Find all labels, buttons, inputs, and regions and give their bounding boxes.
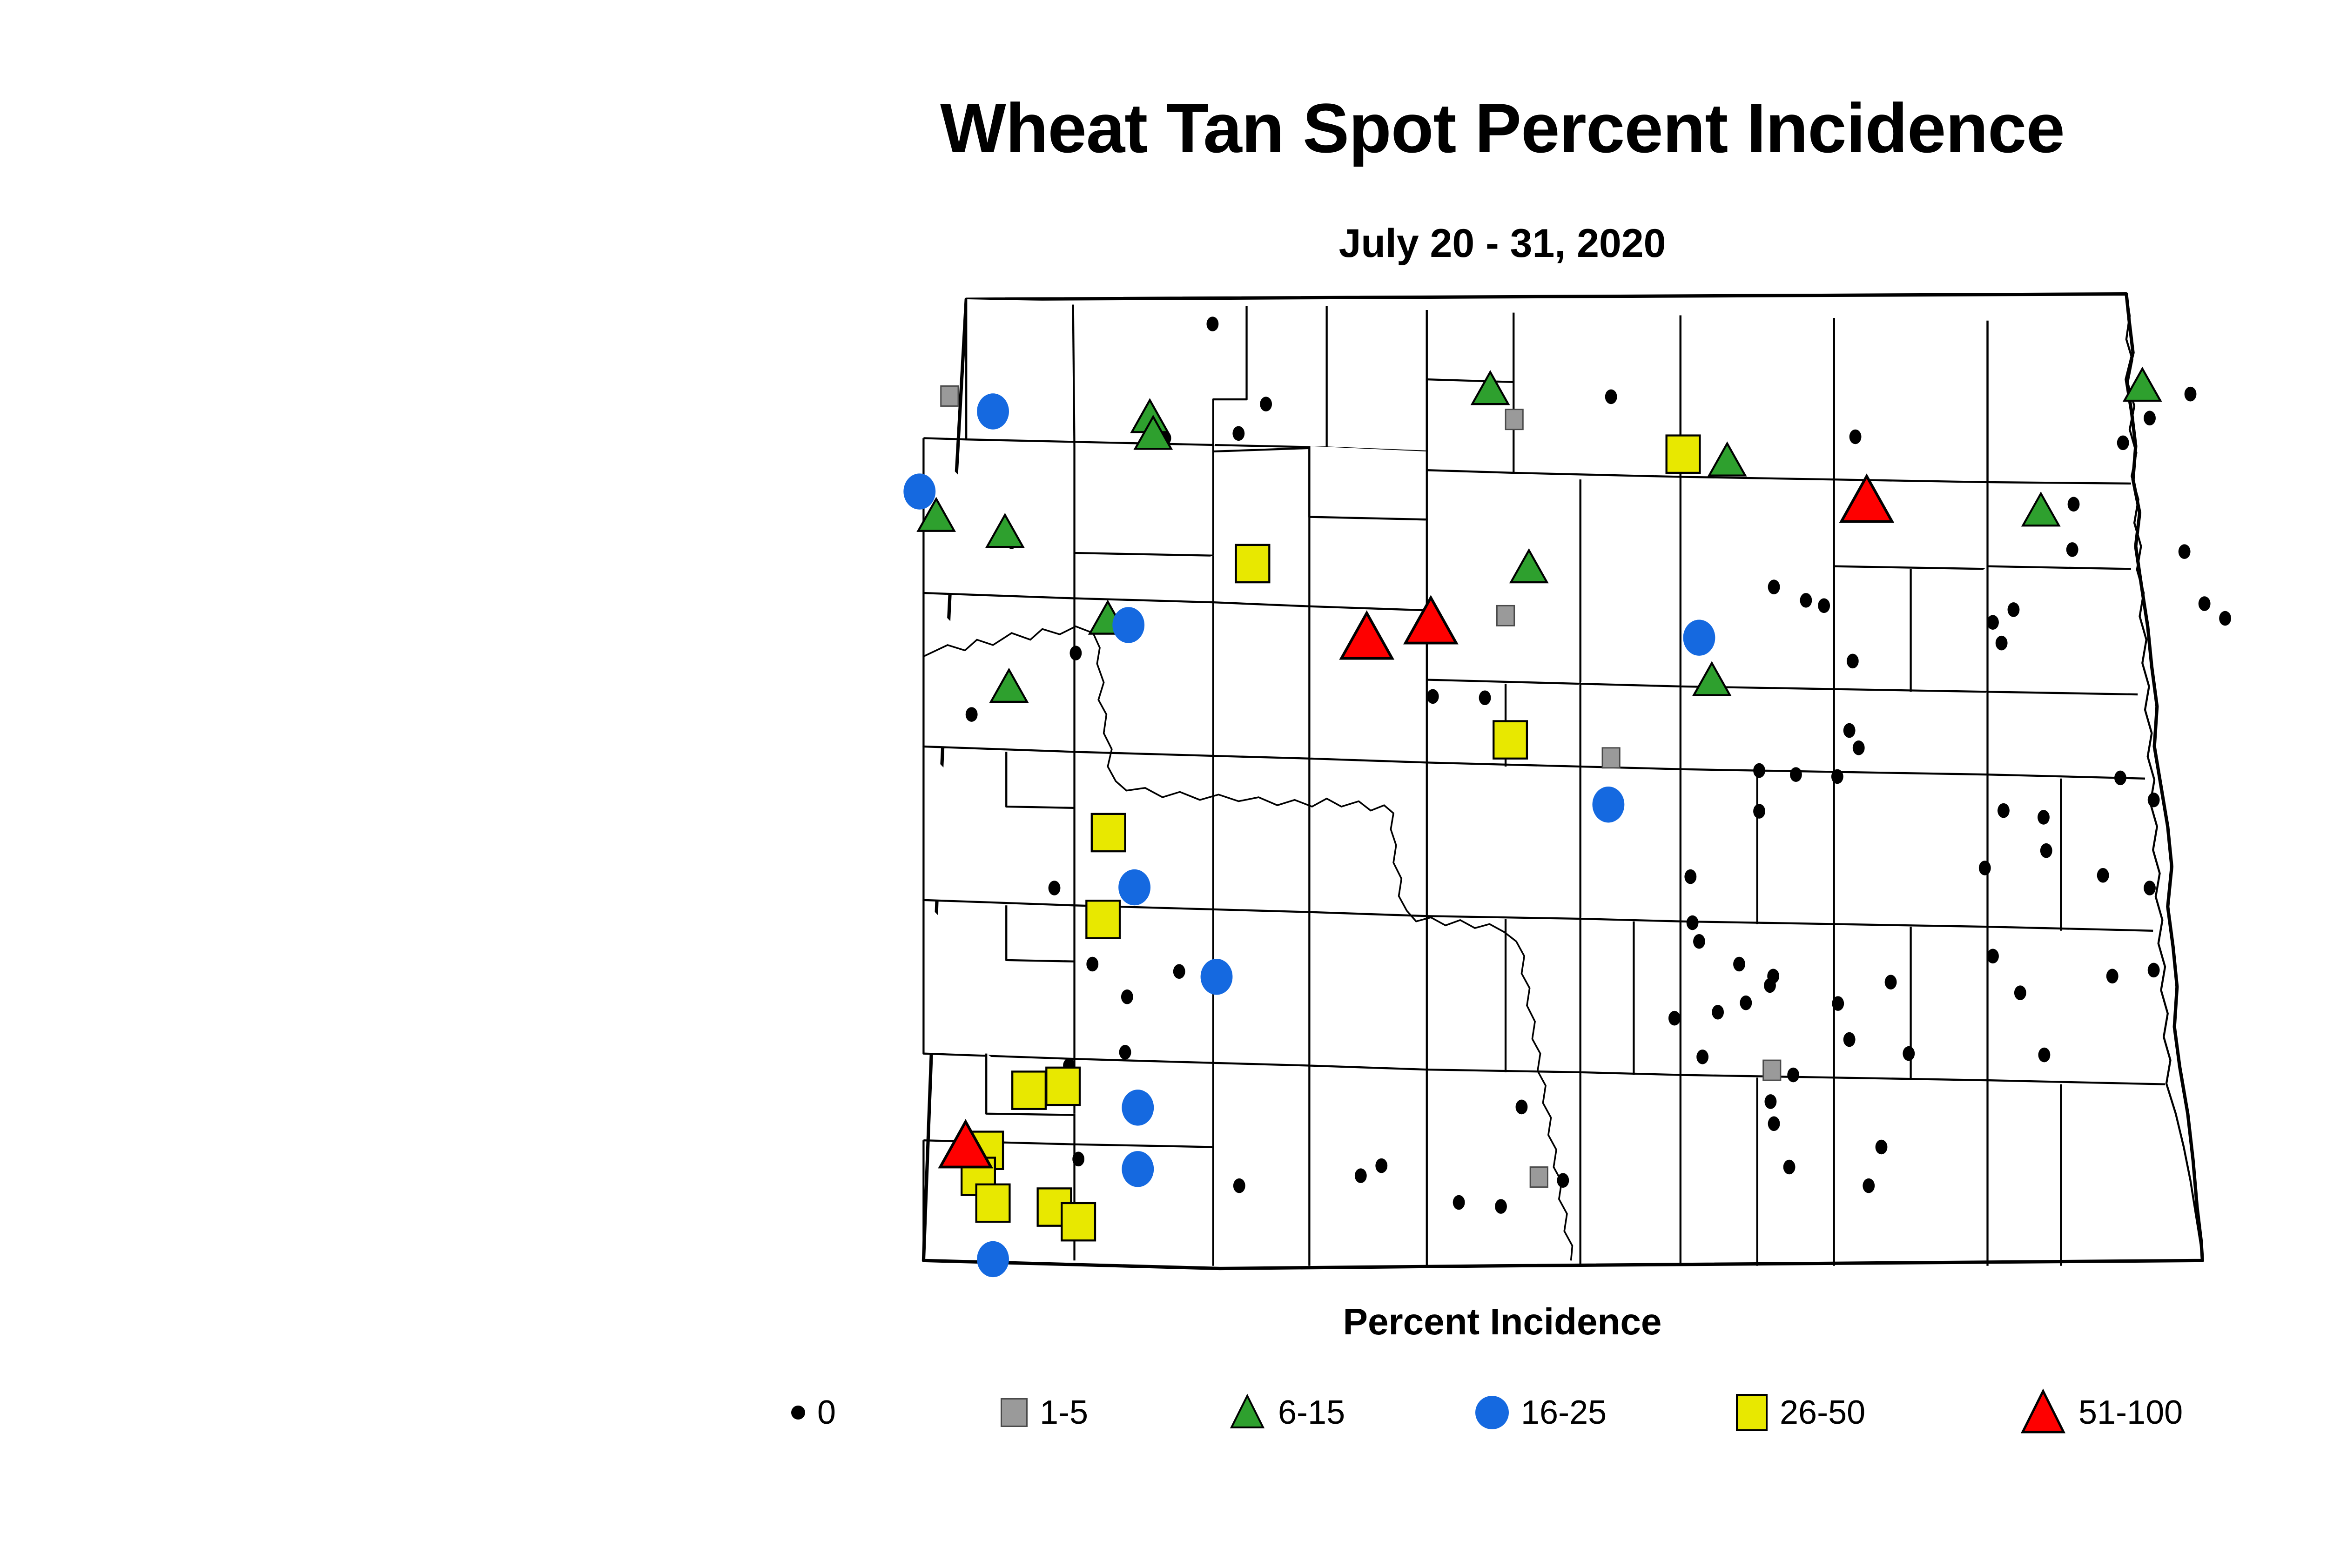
yellow-square-icon (1736, 1394, 1768, 1431)
legend-item-label: 6-15 (1278, 1396, 1345, 1429)
legend: 0 1-5 6-15 16-25 26-50 51-100 (791, 1375, 2327, 1450)
page-subtitle: July 20 - 31, 2020 (0, 223, 2327, 263)
legend-item-51-100[interactable]: 51-100 (2020, 1375, 2183, 1450)
page-title: Wheat Tan Spot Percent Incidence (0, 93, 2327, 163)
north-dakota-county-map[interactable] (773, 279, 2327, 1294)
green-triangle-icon (1229, 1393, 1266, 1433)
legend-item-label: 26-50 (1780, 1396, 1865, 1429)
legend-item-label: 16-25 (1521, 1396, 1607, 1429)
legend-item-0[interactable]: 0 (791, 1375, 836, 1450)
legend-item-6-15[interactable]: 6-15 (1229, 1375, 1345, 1450)
blue-circle-icon (1475, 1396, 1509, 1429)
legend-item-label: 51-100 (2078, 1396, 2183, 1429)
legend-item-16-25[interactable]: 16-25 (1475, 1375, 1607, 1450)
dot-icon (791, 1406, 805, 1420)
gray-square-icon (1001, 1398, 1028, 1427)
legend-title: Percent Incidence (0, 1303, 2327, 1340)
legend-item-label: 0 (817, 1396, 836, 1429)
legend-item-26-50[interactable]: 26-50 (1736, 1375, 1865, 1450)
red-triangle-icon (2020, 1388, 2066, 1437)
legend-item-1-5[interactable]: 1-5 (1001, 1375, 1088, 1450)
legend-item-label: 1-5 (1040, 1396, 1088, 1429)
chart-canvas: Wheat Tan Spot Percent Incidence July 20… (0, 0, 2327, 1568)
